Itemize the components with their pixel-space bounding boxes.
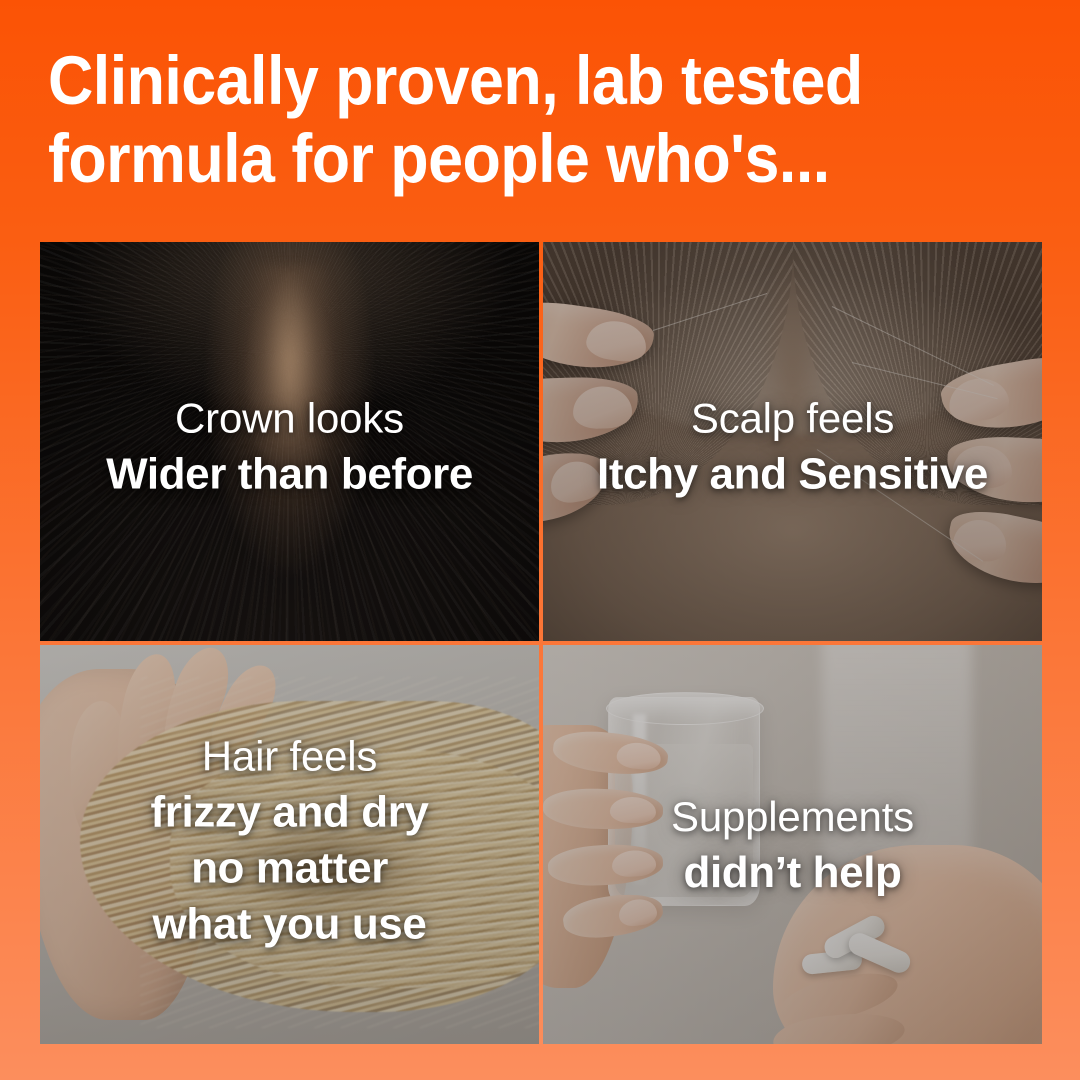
grid-tile-frizz[interactable]: Hair feels frizzy and dry no matter what… (40, 645, 539, 1044)
caption-line: Scalp feels (553, 390, 1032, 446)
caption-line: Supplements (553, 789, 1032, 845)
caption-line: Crown looks (50, 390, 529, 446)
caption-scalp: Scalp feels Itchy and Sensitive (543, 390, 1042, 502)
caption-supplements: Supplements didn’t help (543, 789, 1042, 901)
caption-line: Itchy and Sensitive (553, 446, 1032, 502)
caption-line: what you use (50, 896, 529, 952)
caption-crown: Crown looks Wider than before (40, 390, 539, 502)
caption-line: Wider than before (50, 446, 529, 502)
caption-line: frizzy and dry (50, 784, 529, 840)
ad-canvas: Clinically proven, lab tested formula fo… (0, 0, 1080, 1080)
caption-line: no matter (50, 840, 529, 896)
benefit-grid: Crown looks Wider than before (40, 242, 1041, 1044)
caption-line: Hair feels (50, 728, 529, 784)
page-title: Clinically proven, lab tested formula fo… (48, 42, 940, 198)
caption-frizz: Hair feels frizzy and dry no matter what… (40, 728, 539, 952)
caption-line: didn’t help (553, 845, 1032, 901)
grid-tile-supplements[interactable]: Supplements didn’t help (543, 645, 1042, 1044)
grid-tile-crown[interactable]: Crown looks Wider than before (40, 242, 539, 641)
grid-tile-scalp[interactable]: Scalp feels Itchy and Sensitive (543, 242, 1042, 641)
